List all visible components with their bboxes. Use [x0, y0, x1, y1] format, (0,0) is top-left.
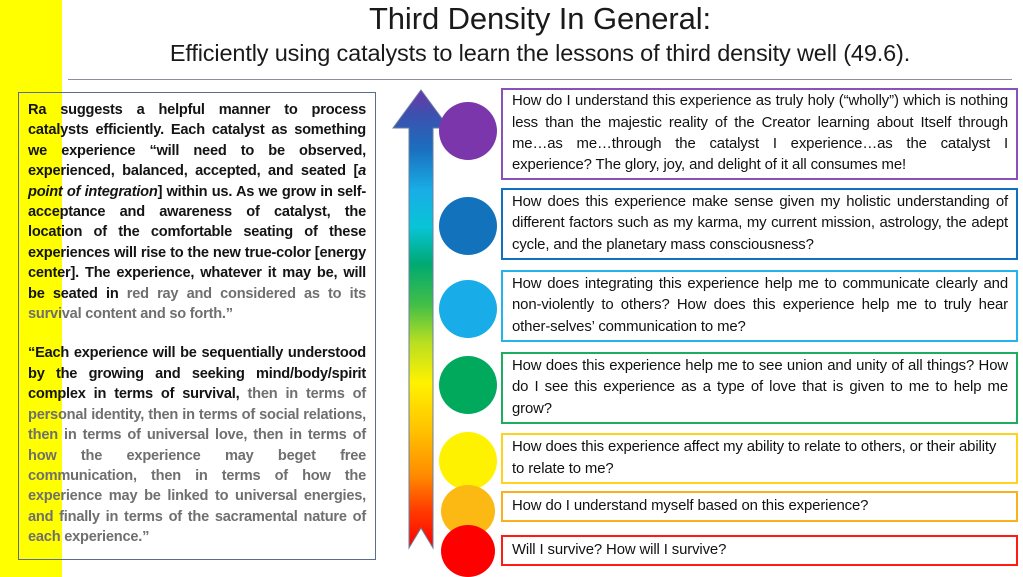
- slide-canvas: Third Density In General: Efficiently us…: [0, 0, 1023, 577]
- indigo-question-text: How does this experience make sense give…: [503, 192, 1016, 256]
- title-divider-rule: [68, 79, 1012, 80]
- quote-p2-grey: then in terms of personal identity, then…: [28, 386, 366, 545]
- quote-p1-part-b: ] within us. As we grow in self-acceptan…: [28, 184, 366, 302]
- orange-question-text: How do I understand myself based on this…: [503, 496, 1016, 517]
- red-question-text: Will I survive? How will I survive?: [503, 540, 1016, 561]
- red-ray-circle: [441, 525, 495, 577]
- green-question-box[interactable]: How does this experience help me to see …: [501, 352, 1018, 424]
- title-subtitle-text: Efficiently using catalysts to learn the…: [68, 38, 1012, 68]
- indigo-question-box[interactable]: How does this experience make sense give…: [501, 188, 1018, 260]
- green-ray-circle: [439, 356, 497, 414]
- page-title: Third Density In General: Efficiently us…: [68, 0, 1012, 80]
- quote-p1-part-a: Ra suggests a helpful manner to process …: [28, 102, 366, 179]
- blue-question-box[interactable]: How does integrating this experience hel…: [501, 270, 1018, 342]
- yellow-question-box[interactable]: How does this experience affect my abili…: [501, 433, 1018, 484]
- upward-gradient-arrow: [392, 88, 450, 572]
- blue-question-text: How does integrating this experience hel…: [503, 274, 1016, 338]
- ra-quote-panel: Ra suggests a helpful manner to process …: [18, 92, 376, 560]
- title-main-text: Third Density In General:: [68, 0, 1012, 38]
- violet-question-text: How do I understand this experience as t…: [503, 91, 1016, 177]
- violet-question-box[interactable]: How do I understand this experience as t…: [501, 88, 1018, 180]
- blue-ray-circle: [439, 280, 497, 338]
- violet-ray-circle: [439, 102, 497, 160]
- indigo-ray-circle: [439, 197, 497, 255]
- green-question-text: How does this experience help me to see …: [503, 356, 1016, 420]
- quote-paragraph-one: Ra suggests a helpful manner to process …: [28, 100, 366, 324]
- quote-paragraph-two: “Each experience will be sequentially un…: [28, 343, 366, 547]
- red-question-box[interactable]: Will I survive? How will I survive?: [501, 535, 1018, 566]
- yellow-ray-circle: [439, 432, 497, 490]
- yellow-question-text: How does this experience affect my abili…: [503, 437, 1016, 480]
- orange-question-box[interactable]: How do I understand myself based on this…: [501, 491, 1018, 522]
